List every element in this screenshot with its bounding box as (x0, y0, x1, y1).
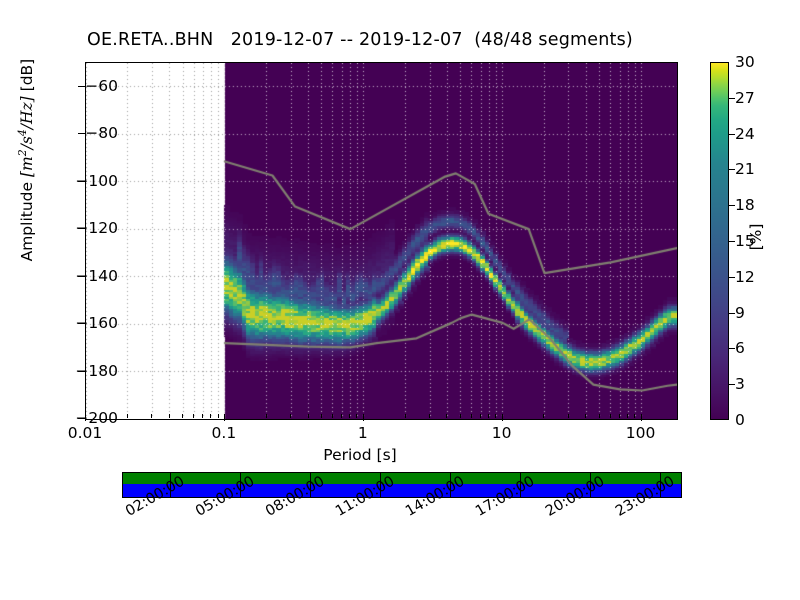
y-axis-label: Amplitude [m2/s4/Hz] [dB] (16, 0, 36, 320)
x-tick-minor (488, 414, 489, 418)
x-tick-minor (585, 414, 586, 418)
x-tick-minor (460, 414, 461, 418)
x-tick-minor (266, 414, 267, 418)
colorbar-tick-mark (729, 241, 735, 242)
colorbar-tick-label: 27 (735, 89, 755, 107)
y-tick-mark (78, 133, 85, 134)
x-tick-minor (568, 414, 569, 418)
x-tick-minor (356, 414, 357, 418)
x-tick-minor (341, 414, 342, 418)
x-tick-mark (363, 414, 364, 421)
x-tick-minor (471, 414, 472, 418)
colorbar-tick-mark (729, 134, 735, 135)
colorbar-tick-label: 30 (735, 53, 755, 71)
colorbar-tick-mark (729, 277, 735, 278)
x-tick-mark (85, 414, 86, 421)
x-tick-minor (446, 414, 447, 418)
x-tick-minor (210, 414, 211, 418)
x-tick-label: 100 (626, 424, 656, 442)
x-tick-minor (290, 414, 291, 418)
x-tick-label: 10 (492, 424, 512, 442)
colorbar-tick-label: 24 (735, 125, 755, 143)
colorbar-tick-label: 3 (735, 375, 745, 393)
x-tick-minor (599, 414, 600, 418)
x-tick-label: 0.1 (212, 424, 237, 442)
plot-title: OE.RETA..BHN 2019-12-07 -- 2019-12-07 (4… (0, 30, 720, 50)
x-tick-minor (151, 414, 152, 418)
y-tick-mark (78, 181, 85, 182)
x-tick-minor (429, 414, 430, 418)
ppsd-histogram-canvas (86, 63, 677, 419)
colorbar-tick-label: 12 (735, 268, 755, 286)
ppsd-axes[interactable] (85, 62, 678, 420)
y-tick-label: −80 (85, 124, 118, 142)
x-tick-label: 1 (358, 424, 368, 442)
x-tick-minor (480, 414, 481, 418)
x-tick-label: 0.01 (68, 424, 103, 442)
colorbar-label: [%] (747, 207, 765, 267)
x-tick-minor (610, 414, 611, 418)
x-tick-minor (627, 414, 628, 418)
y-tick-mark (78, 86, 85, 87)
y-tick-mark (78, 371, 85, 372)
x-tick-mark (502, 414, 503, 421)
colorbar-tick-mark (729, 313, 735, 314)
colorbar-tick-label: 0 (735, 411, 745, 429)
colorbar-tick-mark (729, 169, 735, 170)
x-tick-minor (182, 414, 183, 418)
x-tick-minor (202, 414, 203, 418)
x-tick-minor (308, 414, 309, 418)
y-axis-label-prefix: Amplitude (18, 177, 36, 261)
x-tick-minor (127, 414, 128, 418)
colorbar[interactable] (710, 62, 729, 420)
x-tick-minor (169, 414, 170, 418)
colorbar-tick-mark (729, 384, 735, 385)
colorbar-tick-label: 21 (735, 160, 755, 178)
x-tick-mark (641, 414, 642, 421)
x-tick-minor (321, 414, 322, 418)
colorbar-tick-mark (729, 205, 735, 206)
x-tick-minor (543, 414, 544, 418)
x-tick-minor (634, 414, 635, 418)
x-tick-minor (619, 414, 620, 418)
x-tick-minor (405, 414, 406, 418)
x-axis-label: Period [s] (0, 446, 720, 464)
colorbar-tick-mark (729, 98, 735, 99)
x-tick-mark (224, 414, 225, 421)
ppsd-figure: OE.RETA..BHN 2019-12-07 -- 2019-12-07 (4… (0, 0, 800, 600)
x-tick-minor (495, 414, 496, 418)
colorbar-tick-label: 9 (735, 304, 745, 322)
colorbar-tick-label: 6 (735, 339, 745, 357)
y-tick-mark (78, 276, 85, 277)
y-tick-mark (78, 323, 85, 324)
x-tick-minor (193, 414, 194, 418)
x-tick-minor (349, 414, 350, 418)
x-tick-minor (218, 414, 219, 418)
y-tick-label: −60 (85, 77, 118, 95)
colorbar-tick-mark (729, 348, 735, 349)
y-tick-mark (78, 418, 85, 419)
y-axis-label-suffix: [dB] (18, 59, 36, 97)
x-tick-minor (332, 414, 333, 418)
y-tick-mark (78, 228, 85, 229)
